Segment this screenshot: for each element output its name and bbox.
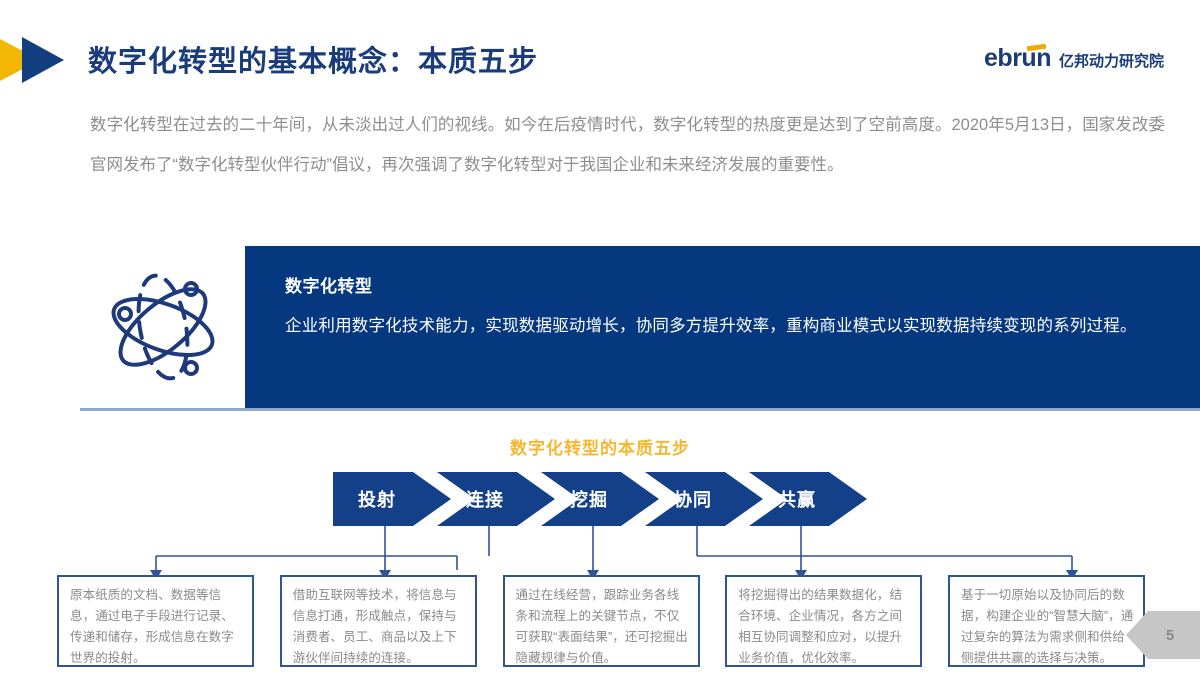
brand-logo: ebrun 亿邦动力研究院 xyxy=(984,44,1164,73)
flow-section-title: 数字化转型的本质五步 xyxy=(0,434,1200,459)
flow-description-box-5: 基于一切原始以及协同后的数据，构建企业的“智慧大脑”，通过复杂的算法为需求侧和供… xyxy=(948,575,1145,667)
page-title: 数字化转型的基本概念：本质五步 xyxy=(88,38,538,80)
brand-logo-en: ebrun xyxy=(984,44,1051,73)
definition-term: 数字化转型 xyxy=(285,272,1170,297)
flow-step-chevron-3[interactable]: 挖掘 xyxy=(541,472,659,526)
brand-logo-cn: 亿邦动力研究院 xyxy=(1059,50,1164,71)
intro-paragraph: 数字化转型在过去的二十年间，从未淡出过人们的视线。如今在后疫情时代，数字化转型的… xyxy=(90,105,1165,185)
flow-step-chevron-4[interactable]: 协同 xyxy=(645,472,763,526)
definition-band: 数字化转型 企业利用数字化技术能力，实现数据驱动增长，协同多方提升效率，重构商业… xyxy=(80,246,1200,408)
flow-description-box-4: 将挖掘得出的结果数据化，结合环境、企业情况，各方之间相互协同调整和应对，以提升业… xyxy=(725,575,922,667)
definition-icon-panel xyxy=(80,246,245,408)
flow-step-chevron-5[interactable]: 共赢 xyxy=(749,472,867,526)
flow-description-row: 原本纸质的文档、数据等信息，通过电子手段进行记录、传递和储存，形成信息在数字世界… xyxy=(57,575,1145,667)
slide-canvas: 数字化转型的基本概念：本质五步 ebrun 亿邦动力研究院 数字化转型在过去的二… xyxy=(0,0,1200,675)
flow-description-box-1: 原本纸质的文档、数据等信息，通过电子手段进行记录、传递和储存，形成信息在数字世界… xyxy=(57,575,254,667)
definition-body: 企业利用数字化技术能力，实现数据驱动增长，协同多方提升效率，重构商业模式以实现数… xyxy=(285,310,1170,343)
flow-description-box-3: 通过在线经营，跟踪业务各线条和流程上的关键节点，不仅可获取“表面结果”，还可挖掘… xyxy=(503,575,700,667)
flow-description-box-2: 借助互联网等技术，将信息与信息打通，形成触点，保持与消费者、员工、商品以及上下游… xyxy=(280,575,477,667)
flow-step-chevron-2[interactable]: 连接 xyxy=(437,472,555,526)
definition-text: 数字化转型 企业利用数字化技术能力，实现数据驱动增长，协同多方提升效率，重构商业… xyxy=(245,246,1200,408)
flow-step-chevron-1[interactable]: 投射 xyxy=(333,472,451,526)
definition-underline xyxy=(80,408,1200,411)
atom-icon xyxy=(103,267,223,387)
double-triangle-arrow-icon xyxy=(0,33,90,87)
